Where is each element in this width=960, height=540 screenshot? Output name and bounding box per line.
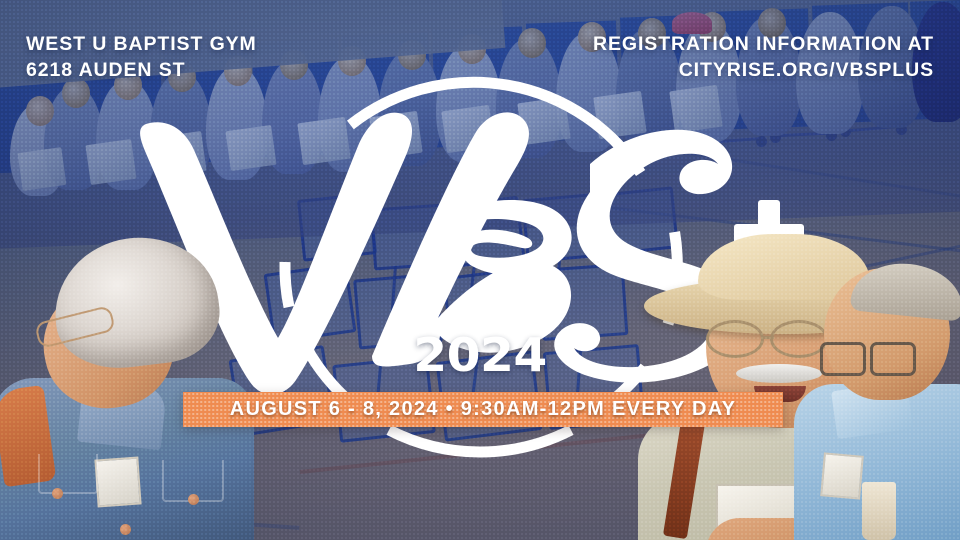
venue-block: WEST U BAPTIST GYM 6218 AUDEN ST — [26, 32, 257, 83]
registration-block: REGISTRATION INFORMATION AT CITYRISE.ORG… — [593, 32, 934, 83]
elderly-man-blue-shirt-photo — [800, 268, 960, 540]
coffee-cup — [862, 482, 896, 540]
name-tag — [820, 452, 864, 499]
vbs-promo-poster: 2024 WEST U BAPTIST GYM 6218 AUDEN ST RE… — [0, 0, 960, 540]
name-tag — [94, 457, 141, 508]
registration-line-1: REGISTRATION INFORMATION AT — [593, 32, 934, 58]
venue-line-1: WEST U BAPTIST GYM — [26, 32, 257, 58]
event-dates-text: AUGUST 6 - 8, 2024 • 9:30AM-12PM EVERY D… — [230, 398, 737, 421]
registration-url[interactable]: CITYRISE.ORG/VBSPLUS — [593, 58, 934, 84]
event-dates-bar: AUGUST 6 - 8, 2024 • 9:30AM-12PM EVERY D… — [183, 392, 783, 427]
venue-line-2: 6218 AUDEN ST — [26, 58, 257, 84]
elderly-woman-photo — [0, 238, 262, 540]
